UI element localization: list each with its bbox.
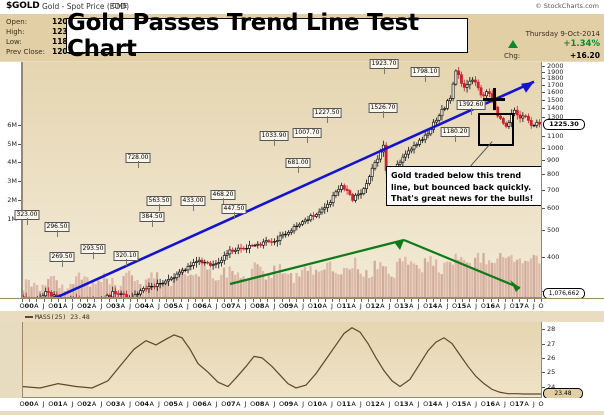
x-axis-month-label: A xyxy=(351,400,355,408)
price-tick-label: 800 xyxy=(547,170,559,178)
price-label-stem xyxy=(327,116,328,123)
x-axis-month-label: A xyxy=(409,302,413,310)
price-label-stem xyxy=(27,218,28,225)
x-axis-month-label: A xyxy=(150,400,154,408)
x-axis-month-label: J xyxy=(446,302,448,310)
annotation-line-2: line, but bounced back quickly. xyxy=(391,182,547,194)
x-axis-year-label: 07 xyxy=(227,302,236,310)
x-axis-tick-mark xyxy=(123,299,124,302)
high-label: High: xyxy=(6,28,24,36)
x-axis-tick-mark xyxy=(375,299,376,302)
x-axis-year-label: 12 xyxy=(371,302,380,310)
x-axis-month-label: J xyxy=(389,302,391,310)
x-axis-month-label: A xyxy=(467,400,471,408)
x-axis-month-label: J xyxy=(187,400,189,408)
x-axis-month-label: A xyxy=(121,302,125,310)
stockcharts-watermark: © StockCharts.com xyxy=(535,2,599,10)
indicator-axis-right: 282726252423.48 xyxy=(541,322,604,398)
x-axis-month-label: A xyxy=(438,302,442,310)
x-axis-year-label: 08 xyxy=(255,302,264,310)
x-axis-month-label: A xyxy=(409,400,413,408)
x-axis-month-label: J xyxy=(273,400,275,408)
x-axis-tick-mark xyxy=(519,299,520,302)
x-axis-month-label: J xyxy=(475,400,477,408)
x-axis-tick-mark xyxy=(188,299,189,302)
x-axis-month-label: J xyxy=(187,302,189,310)
stockcharts-screenshot: $GOLD Gold - Spot Price (EOD) CME © Stoc… xyxy=(0,0,604,415)
x-axis-year-label: 05 xyxy=(169,400,178,408)
price-label-stem xyxy=(152,220,153,227)
change-percent: +1.34% xyxy=(563,39,600,49)
x-axis-month-label: J xyxy=(446,400,448,408)
price-label-stem xyxy=(455,135,456,142)
x-axis-tick-mark xyxy=(217,299,218,302)
x-axis-month-label: A xyxy=(323,400,327,408)
x-axis-tick-mark xyxy=(87,299,88,302)
price-label-stem xyxy=(471,108,472,115)
x-axis-month-label: A xyxy=(496,302,500,310)
x-axis-tick-mark xyxy=(173,299,174,302)
annotation-line-1: Gold traded below this trend xyxy=(391,170,547,182)
indicator-tick-label: 26 xyxy=(547,354,555,362)
x-axis-month-label: J xyxy=(533,302,535,310)
x-axis-year-label: 09 xyxy=(284,302,293,310)
x-axis-tick-mark xyxy=(527,299,528,302)
x-axis-tick-mark xyxy=(65,299,66,302)
indicator-legend-text: MASS(25) 23.48 xyxy=(35,313,90,321)
price-tick-label: 1000 xyxy=(547,144,564,152)
x-axis-tick-mark xyxy=(145,299,146,302)
x-axis-tick-mark xyxy=(282,299,283,302)
x-axis-month-label: A xyxy=(294,400,298,408)
x-axis-tick-mark xyxy=(491,299,492,302)
x-axis-month-label: J xyxy=(302,302,304,310)
x-axis-month-label: A xyxy=(265,302,269,310)
x-axis-month-label: J xyxy=(71,302,73,310)
x-axis-tick-mark xyxy=(181,299,182,302)
x-axis-tick-mark xyxy=(152,299,153,302)
x-axis-tick-mark xyxy=(310,299,311,302)
x-axis-tick-mark xyxy=(36,299,37,302)
x-axis-month-label: J xyxy=(475,302,477,310)
x-axis-month-label: J xyxy=(43,400,45,408)
x-axis-year-label: 13 xyxy=(400,400,409,408)
x-axis-tick-mark xyxy=(339,299,340,302)
price-label-stem xyxy=(62,260,63,267)
x-axis-month-label: A xyxy=(92,400,96,408)
volume-tick-label: 3M xyxy=(7,177,17,185)
x-axis-tick-mark xyxy=(296,299,297,302)
x-axis-month-label: A xyxy=(496,400,500,408)
x-axis-month-label: J xyxy=(389,400,391,408)
x-axis-month-label: A xyxy=(236,400,240,408)
quote-date: Thursday 9-Oct-2014 xyxy=(526,30,600,38)
price-label-stem xyxy=(126,259,127,266)
x-axis-tick-mark xyxy=(303,299,304,302)
x-axis-tick-mark xyxy=(224,299,225,302)
x-axis-year-label: 06 xyxy=(198,400,207,408)
x-axis-tick-mark xyxy=(159,299,160,302)
x-axis-tick-mark xyxy=(29,299,30,302)
x-axis-year-label: 16 xyxy=(486,302,495,310)
x-axis-month-label: J xyxy=(71,400,73,408)
x-axis-tick-mark xyxy=(433,299,434,302)
price-label-stem xyxy=(234,212,235,219)
price-axis-right: 2000190018001700160015001400130011001000… xyxy=(541,62,604,298)
x-axis-month-label: J xyxy=(504,302,506,310)
x-axis-year-label: 06 xyxy=(198,302,207,310)
price-label-stem xyxy=(93,252,94,259)
x-axis-month-label: J xyxy=(158,302,160,310)
x-axis-year-label: 00 xyxy=(25,302,34,310)
annotation-callout: Gold traded below this trend line, but b… xyxy=(386,166,552,206)
prev-close-label: Prev Close: xyxy=(6,48,45,56)
x-axis-tick-mark xyxy=(202,299,203,302)
x-axis-tick-mark xyxy=(534,299,535,302)
volume-bars xyxy=(22,253,541,298)
x-axis-tick-mark xyxy=(289,299,290,302)
chg-label: Chg: xyxy=(504,52,520,60)
x-axis-tick-mark xyxy=(332,299,333,302)
x-axis-year-label: 00 xyxy=(25,400,34,408)
x-axis-year-label: 05 xyxy=(169,302,178,310)
x-axis-tick-mark xyxy=(397,299,398,302)
x-axis-year-label: 11 xyxy=(342,302,351,310)
price-tick-label: 1400 xyxy=(547,104,564,112)
x-axis-tick-mark xyxy=(72,299,73,302)
x-axis-tick-mark xyxy=(361,299,362,302)
x-axis-month-label: A xyxy=(63,302,67,310)
x-axis-month-label: J xyxy=(100,400,102,408)
x-axis-month-label: A xyxy=(63,400,67,408)
open-label: Open: xyxy=(6,18,27,26)
x-axis-tick-mark xyxy=(498,299,499,302)
x-axis-month-label: O xyxy=(538,302,543,310)
x-axis-year-label: 15 xyxy=(457,302,466,310)
x-axis-tick-mark xyxy=(253,299,254,302)
price-label-stem xyxy=(307,136,308,143)
price-label-stem xyxy=(274,139,275,146)
chg-value: +16.20 xyxy=(570,51,600,60)
x-axis-tick-mark xyxy=(245,299,246,302)
price-label-stem xyxy=(425,75,426,82)
x-axis-month-label: J xyxy=(129,400,131,408)
x-axis-year-label: 02 xyxy=(82,400,91,408)
x-axis-month-label: J xyxy=(43,302,45,310)
x-axis-tick-mark xyxy=(447,299,448,302)
x-axis-price-panel: O00AJO01AJO02AJO03AJO04AJO05AJO06AJO07AJ… xyxy=(0,298,604,311)
price-tick-label: 700 xyxy=(547,186,559,194)
indicator-tick-label: 25 xyxy=(547,368,555,376)
x-axis-month-label: O xyxy=(538,400,543,408)
x-axis-year-label: 11 xyxy=(342,400,351,408)
x-axis-month-label: A xyxy=(150,302,154,310)
x-axis-month-label: J xyxy=(273,302,275,310)
x-axis-tick-mark xyxy=(404,299,405,302)
x-axis-month-label: J xyxy=(100,302,102,310)
x-axis-month-label: A xyxy=(323,302,327,310)
x-axis-tick-mark xyxy=(195,299,196,302)
x-axis-year-label: 09 xyxy=(284,400,293,408)
x-axis-tick-mark xyxy=(455,299,456,302)
x-axis-tick-mark xyxy=(267,299,268,302)
price-tick-label: 400 xyxy=(547,253,559,261)
price-axis-line xyxy=(541,62,542,298)
x-axis-month-label: A xyxy=(178,400,182,408)
x-axis-tick-mark xyxy=(209,299,210,302)
x-axis-year-label: 04 xyxy=(140,302,149,310)
x-axis-tick-mark xyxy=(505,299,506,302)
price-tick-label: 1100 xyxy=(547,132,564,140)
crosshair-icon xyxy=(483,88,505,110)
indicator-header xyxy=(0,311,604,322)
price-tick-label: 600 xyxy=(547,204,559,212)
x-axis-tick-mark xyxy=(51,299,52,302)
x-axis-year-label: 12 xyxy=(371,400,380,408)
x-axis-tick-mark xyxy=(274,299,275,302)
x-axis-tick-mark xyxy=(44,299,45,302)
x-axis-month-label: J xyxy=(129,302,131,310)
x-axis-year-label: 04 xyxy=(140,400,149,408)
x-axis-year-label: 17 xyxy=(515,400,524,408)
x-axis-month-label: A xyxy=(92,302,96,310)
x-axis-tick-mark xyxy=(231,299,232,302)
x-axis-month-label: J xyxy=(244,400,246,408)
x-axis-month-label: J xyxy=(533,400,535,408)
x-axis-month-label: J xyxy=(216,400,218,408)
x-axis-year-label: 15 xyxy=(457,400,466,408)
x-axis-month-label: J xyxy=(360,400,362,408)
x-axis-tick-mark xyxy=(426,299,427,302)
volume-axis-left: 6M5M4M3M2M1M xyxy=(0,62,22,298)
x-axis-tick-mark xyxy=(109,299,110,302)
x-axis-year-label: 01 xyxy=(54,302,63,310)
x-axis-month-label: A xyxy=(438,400,442,408)
price-label-stem xyxy=(298,166,299,173)
x-axis-tick-mark xyxy=(238,299,239,302)
x-axis-tick-mark xyxy=(462,299,463,302)
price-label-stem xyxy=(384,67,385,74)
price-tick-label: 900 xyxy=(547,156,559,164)
volume-tick-label: 4M xyxy=(7,158,17,166)
x-axis-month-label: A xyxy=(236,302,240,310)
x-axis-tick-mark xyxy=(512,299,513,302)
x-axis-month-label: A xyxy=(351,302,355,310)
price-label-stem xyxy=(383,111,384,118)
x-axis-year-label: 08 xyxy=(255,400,264,408)
x-axis-tick-mark xyxy=(260,299,261,302)
indicator-tick-label: 28 xyxy=(547,325,555,333)
low-label: Low: xyxy=(6,38,22,46)
indicator-axis-line xyxy=(541,322,542,398)
x-axis-month-label: J xyxy=(417,302,419,310)
x-axis-year-label: 10 xyxy=(313,400,322,408)
x-axis-year-label: 14 xyxy=(428,302,437,310)
x-axis-year-label: 02 xyxy=(82,302,91,310)
x-axis-year-label: 14 xyxy=(428,400,437,408)
price-label-stem xyxy=(193,204,194,211)
x-axis-tick-mark xyxy=(368,299,369,302)
price-tick-label: 500 xyxy=(547,226,559,234)
x-axis-month-label: A xyxy=(34,400,38,408)
x-axis-month-label: A xyxy=(294,302,298,310)
x-axis-tick-mark xyxy=(101,299,102,302)
indicator-border xyxy=(22,322,541,398)
indicator-line-swatch-icon xyxy=(25,316,33,318)
x-axis-month-label: A xyxy=(34,302,38,310)
x-axis-month-label: A xyxy=(178,302,182,310)
x-axis-tick-mark xyxy=(94,299,95,302)
annotation-line-3: That's great news for the bulls! xyxy=(391,193,547,205)
price-label-stem xyxy=(57,230,58,237)
x-axis-month-label: A xyxy=(207,400,211,408)
symbol-ticker[interactable]: $GOLD xyxy=(6,1,40,11)
x-axis-month-label: J xyxy=(504,400,506,408)
x-axis-tick-mark xyxy=(382,299,383,302)
x-axis-tick-mark xyxy=(354,299,355,302)
price-label-stem xyxy=(138,161,139,168)
x-axis-month-label: J xyxy=(216,302,218,310)
page-title: Gold Passes Trend Line Test Chart xyxy=(67,10,467,62)
volume-tick-label: 2M xyxy=(7,196,17,204)
x-axis-tick-mark xyxy=(80,299,81,302)
chart-title-banner: Gold Passes Trend Line Test Chart xyxy=(66,18,468,53)
x-axis-month-label: J xyxy=(244,302,246,310)
x-axis-month-label: J xyxy=(331,400,333,408)
highlight-box xyxy=(478,113,514,146)
price-tick-label: 1500 xyxy=(547,96,564,104)
primary-trend-arrow xyxy=(521,82,534,93)
x-axis-month-label: A xyxy=(524,302,528,310)
x-axis-tick-mark xyxy=(440,299,441,302)
x-axis-month-label: A xyxy=(121,400,125,408)
x-axis-tick-mark xyxy=(166,299,167,302)
x-axis-month-label: A xyxy=(467,302,471,310)
x-axis-month-label: J xyxy=(417,400,419,408)
x-axis-year-label: 03 xyxy=(111,400,120,408)
x-axis-tick-mark xyxy=(130,299,131,302)
x-axis-tick-mark xyxy=(116,299,117,302)
indicator-legend: MASS(25) 23.48 xyxy=(25,313,90,321)
x-axis-tick-mark xyxy=(476,299,477,302)
x-axis-tick-mark xyxy=(22,299,23,302)
x-axis-tick-mark xyxy=(390,299,391,302)
x-axis-month-label: J xyxy=(331,302,333,310)
x-axis-month-label: A xyxy=(380,400,384,408)
x-axis-tick-mark xyxy=(541,299,542,302)
x-axis-month-label: J xyxy=(158,400,160,408)
x-axis-month-label: A xyxy=(265,400,269,408)
x-axis-tick-mark xyxy=(325,299,326,302)
x-axis-indicator-panel: O00AJO01AJO02AJO03AJO04AJO05AJO06AJO07AJ… xyxy=(0,398,604,411)
volume-tick-label: 5M xyxy=(7,140,17,148)
x-axis-month-label: J xyxy=(360,302,362,310)
x-axis-tick-mark xyxy=(469,299,470,302)
x-axis-tick-mark xyxy=(318,299,319,302)
x-axis-tick-mark xyxy=(483,299,484,302)
x-axis-year-label: 01 xyxy=(54,400,63,408)
x-axis-tick-mark xyxy=(58,299,59,302)
price-label-stem xyxy=(159,204,160,211)
x-axis-month-label: J xyxy=(302,400,304,408)
x-axis-year-label: 17 xyxy=(515,302,524,310)
x-axis-year-label: 07 xyxy=(227,400,236,408)
x-axis-tick-mark xyxy=(418,299,419,302)
x-axis-tick-mark xyxy=(137,299,138,302)
x-axis-month-label: A xyxy=(380,302,384,310)
current-price-badge: 1225.30 xyxy=(543,119,585,130)
x-axis-year-label: 13 xyxy=(400,302,409,310)
up-arrow-icon xyxy=(508,40,518,48)
volume-tick-label: 6M xyxy=(7,121,17,129)
x-axis-month-label: A xyxy=(207,302,211,310)
x-axis-year-label: 10 xyxy=(313,302,322,310)
indicator-tick-label: 27 xyxy=(547,340,555,348)
x-axis-month-label: A xyxy=(524,400,528,408)
x-axis-tick-mark xyxy=(346,299,347,302)
x-axis-year-label: 03 xyxy=(111,302,120,310)
x-axis-year-label: 16 xyxy=(486,400,495,408)
x-axis-tick-mark xyxy=(411,299,412,302)
